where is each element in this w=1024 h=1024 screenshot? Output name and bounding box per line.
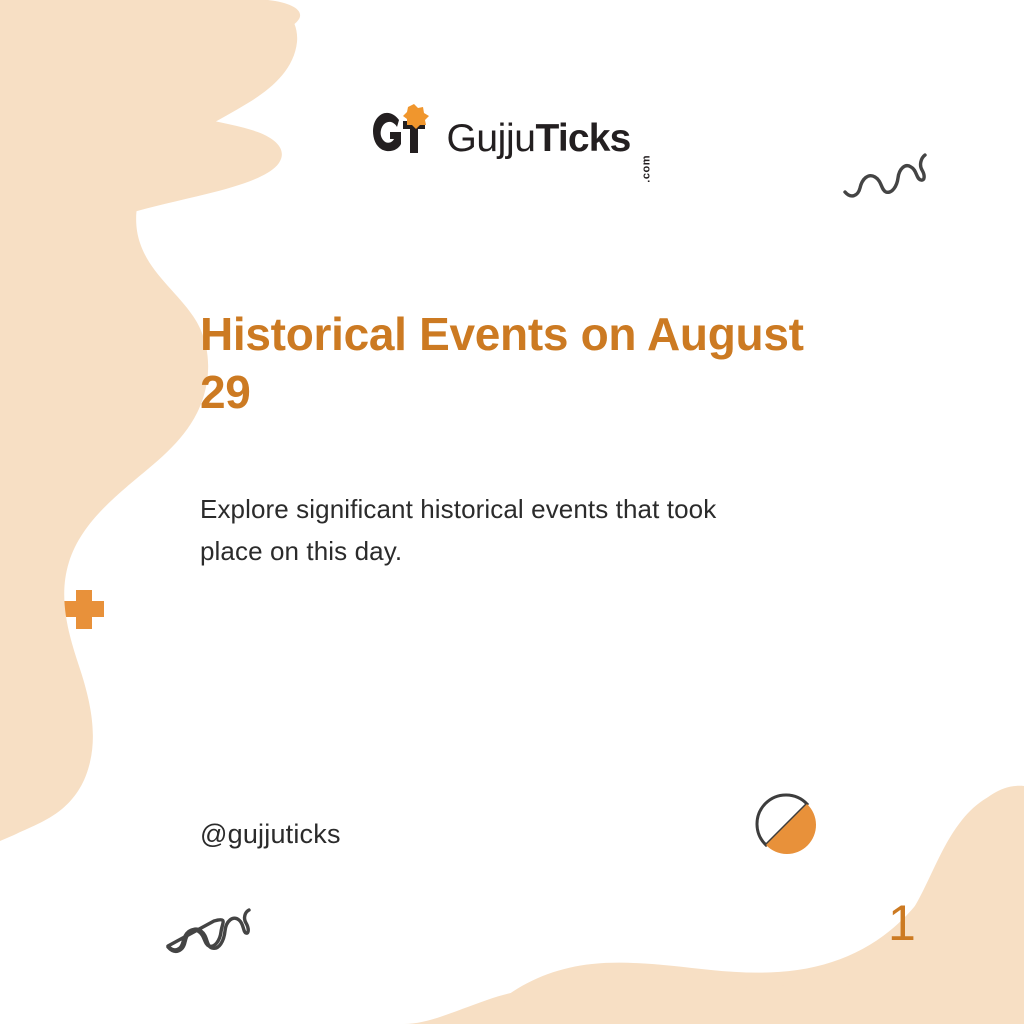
plus-icon [64, 590, 104, 629]
squiggle-bottom-left [168, 920, 223, 950]
brand-wordmark: GujjuTicks .com [446, 119, 650, 158]
social-handle: @gujjuticks [200, 819, 341, 850]
half-circle-outline [757, 795, 807, 845]
half-circle-fill [766, 804, 816, 854]
page-number: 1 [888, 898, 916, 948]
blob-bottom-right-main [480, 788, 1024, 1024]
blob-bottom-right-lobe [470, 986, 686, 1024]
blob-bottom-right-sweep [479, 786, 1024, 1024]
squiggle-bottom-left-wave [168, 910, 249, 951]
blob-bottom-right [404, 789, 1024, 1024]
brand-tld: .com [642, 155, 653, 183]
social-card-slide: GujjuTicks .com Historical Events on Aug… [0, 0, 1024, 1024]
brand-word-light: Gujju [446, 119, 535, 158]
brand-word-bold: Ticks [536, 119, 631, 158]
content-block: Historical Events on August 29 Explore s… [200, 306, 840, 572]
brand-logo[interactable]: GujjuTicks .com [0, 104, 1024, 158]
blob-bottom-edge [470, 960, 1024, 1024]
blob-bottom-right-hook [470, 992, 690, 1024]
squiggle-top-right [845, 155, 925, 196]
page-title: Historical Events on August 29 [200, 306, 815, 422]
half-circle-icon [757, 795, 816, 854]
blob-top-left [0, 0, 300, 334]
page-subtitle: Explore significant historical events th… [200, 488, 785, 572]
gt-monogram-icon [373, 104, 435, 158]
